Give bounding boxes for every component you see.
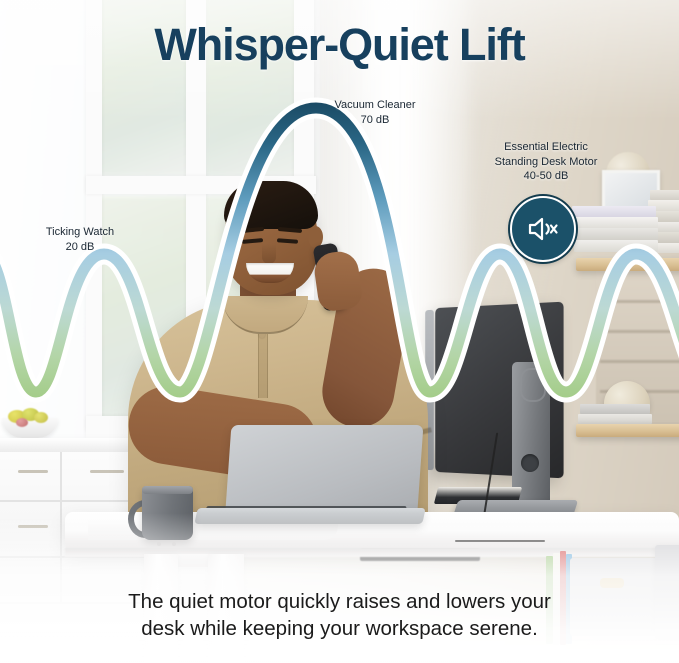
speaker-mute-icon [526,215,560,243]
annotation-standing-desk-motor: Essential Electric Standing Desk Motor 4… [470,140,622,184]
annotation-line-1: Ticking Watch [18,225,142,240]
caption-line-1: The quiet motor quickly raises and lower… [0,588,679,615]
graphic-overlay: Whisper-Quiet Lift Ticking Watch 20 dB V… [0,0,679,663]
annotation-vacuum-cleaner: Vacuum Cleaner 70 dB [300,98,450,127]
annotation-line-1: Essential Electric [470,140,622,155]
caption: The quiet motor quickly raises and lower… [0,588,679,642]
caption-line-2: desk while keeping your workspace serene… [0,615,679,642]
page-title: Whisper-Quiet Lift [0,22,679,67]
quiet-badge [510,196,576,262]
annotation-line-2: 70 dB [300,113,450,128]
annotation-line-2: 20 dB [18,240,142,255]
annotation-ticking-watch: Ticking Watch 20 dB [18,225,142,254]
annotation-line-1: Vacuum Cleaner [300,98,450,113]
annotation-line-2: Standing Desk Motor [470,155,622,170]
promo-banner: Whisper-Quiet Lift Ticking Watch 20 dB V… [0,0,679,663]
annotation-line-3: 40-50 dB [470,169,622,184]
